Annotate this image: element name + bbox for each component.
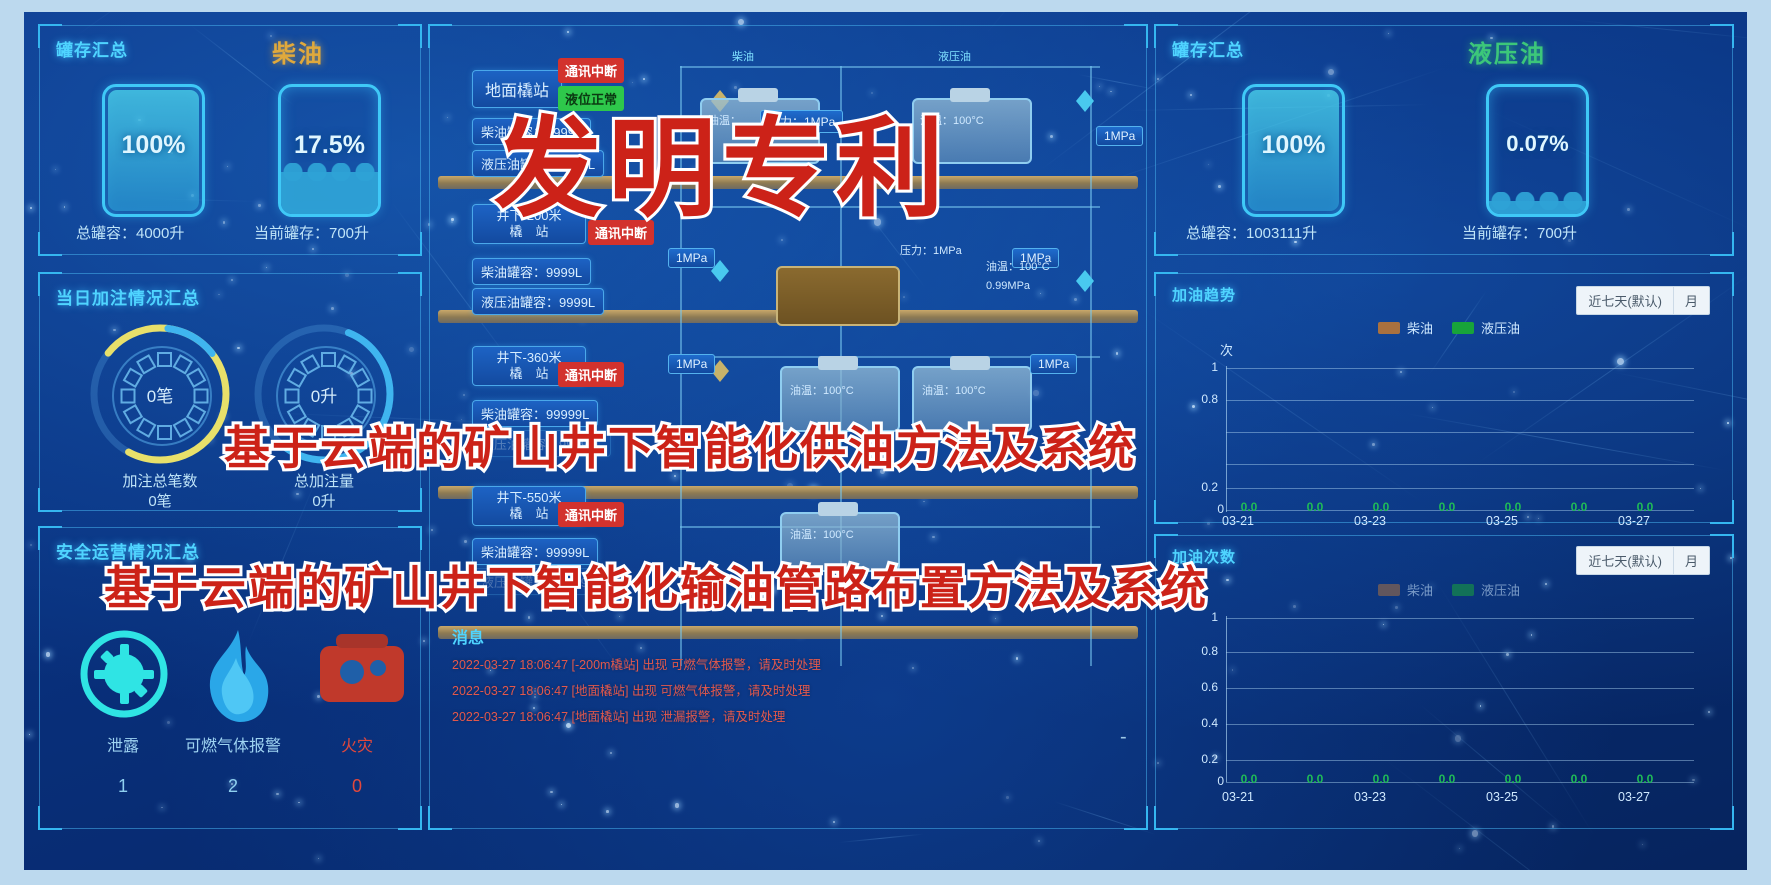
corner-decor (1710, 232, 1734, 256)
panel-title: 当日加注情况汇总 (56, 284, 200, 309)
tank-percent: 100% (1245, 131, 1342, 160)
corner-decor (1710, 24, 1734, 48)
panel-edge (1155, 294, 1156, 502)
pressure-chip-1: 1MPa (668, 248, 715, 268)
schematic-tank-cap (818, 502, 858, 516)
gauge-value: 0笔 (86, 320, 234, 468)
gridline (1226, 400, 1694, 401)
diesel-capacity-1: 柴油罐容：9999L (472, 258, 591, 285)
gauge-caption-title: 加注总笔数 (122, 473, 197, 490)
zoom-out-button[interactable]: - (1120, 726, 1127, 749)
gridline (1226, 724, 1694, 725)
data-label: 0.0 (1430, 772, 1464, 786)
gauge-caption-volume: 总加注量 0升 (244, 472, 404, 512)
x-tick-count: 03-23 (1342, 790, 1398, 804)
schematic-label-hydraulic-0: 液压油 (938, 48, 971, 64)
current-stock-label: 当前罐存：700升 (254, 222, 369, 243)
y-tick: 0.2 (1184, 752, 1218, 766)
legend-swatch-hydraulic (1452, 584, 1474, 596)
legend-swatch-hydraulic (1452, 322, 1474, 334)
hydraulic-capacity-1: 液压油罐容：9999L (472, 288, 604, 315)
corner-decor (1154, 806, 1178, 830)
data-label: 0.0 (1562, 772, 1596, 786)
gas-flame-icon (190, 624, 286, 733)
chart-title-trend: 加油趋势 (1172, 284, 1236, 305)
panel-edge (1176, 25, 1712, 26)
data-label: 0.0 (1628, 772, 1662, 786)
panel-edge (60, 828, 400, 829)
legend-label-hydraulic: 液压油 (1481, 580, 1520, 599)
panel-edge (39, 46, 40, 234)
data-label: 0.0 (1298, 500, 1332, 514)
y-tick: 0.2 (1184, 480, 1218, 494)
temp-text-2: 油温：100°C (790, 382, 854, 398)
data-label: 0.0 (1364, 772, 1398, 786)
range-option-week[interactable]: 近七天(默认) (1577, 287, 1673, 314)
gridline (1226, 688, 1694, 689)
corner-decor (428, 24, 452, 48)
x-tick-trend: 03-25 (1474, 514, 1530, 528)
schematic-tank-cap (950, 88, 990, 102)
legend-swatch-diesel (1378, 322, 1400, 334)
pressure-text-1: 压力：1MPa (900, 242, 962, 258)
total-capacity-label: 总罐容：1003111升 (1186, 222, 1317, 243)
pressure-chip-4: 1MPa (1030, 354, 1077, 374)
safety-label-gas: 可燃气体报警 (173, 732, 293, 756)
status-badge-comm-2: 通讯中断 (558, 362, 624, 387)
schematic-label-diesel-0: 柴油 (732, 48, 754, 64)
panel-edge (60, 527, 400, 528)
panel-edge (39, 548, 40, 808)
safety-label-fire: 火灾 (297, 732, 417, 756)
data-label: 0.0 (1562, 500, 1596, 514)
safety-value-gas: 2 (173, 776, 293, 797)
y-tick: 1 (1184, 360, 1218, 374)
tank-fill (1489, 201, 1586, 214)
message-row: 2022-03-27 18:06:47 [地面橇站] 出现 可燃气体报警，请及时… (452, 680, 810, 699)
data-label: 0.0 (1430, 500, 1464, 514)
station-name-line2: 橇 站 (509, 506, 548, 521)
left-tank-panel: 罐存汇总 柴油 100% 17.5% 总罐容：4000升 当前罐存：700升 (40, 26, 420, 254)
product-title-hydraulic: 液压油 (1468, 34, 1546, 69)
x-tick-trend: 03-23 (1342, 514, 1398, 528)
panel-edge (39, 294, 40, 490)
corner-decor (428, 806, 452, 830)
current-stock-label: 当前罐存：700升 (1462, 222, 1577, 243)
panel-edge (1176, 535, 1712, 536)
legend-label-diesel: 柴油 (1407, 580, 1433, 599)
tank-percent: 17.5% (281, 131, 378, 160)
data-label: 0.0 (1496, 772, 1530, 786)
panel-edge (1176, 273, 1712, 274)
panel-edge (1146, 46, 1147, 808)
safety-value-leak: 1 (63, 776, 183, 797)
panel-edge (1176, 828, 1712, 829)
tank-percent: 100% (105, 131, 202, 160)
message-row: 2022-03-27 18:06:47 [地面橇站] 出现 泄漏报警，请及时处理 (452, 706, 785, 725)
status-badge-comm-3: 通讯中断 (558, 502, 624, 527)
gauge-caption-count: 加注总笔数 0笔 (80, 472, 240, 512)
tank-total-hydraulic: 100% (1242, 84, 1345, 217)
data-label: 0.0 (1364, 500, 1398, 514)
watermark-line-1: 基于云端的矿山井下智能化供油方法及系统 (224, 412, 1136, 478)
y-axis-line (1226, 366, 1227, 512)
range-option-month[interactable]: 月 (1673, 547, 1709, 574)
leak-icon (76, 626, 172, 727)
legend-swatch-diesel (1378, 584, 1400, 596)
fire-alarm-icon (314, 628, 410, 725)
corner-decor (1154, 500, 1178, 524)
schematic-tank-cap (950, 356, 990, 370)
tank-current-hydraulic: 0.07% (1486, 84, 1589, 217)
range-selector-count[interactable]: 近七天(默认) 月 (1576, 546, 1710, 575)
y-axis-line (1226, 616, 1227, 782)
y-tick: 0.8 (1184, 392, 1218, 406)
refuel-count-chart-panel: 加油次数 近七天(默认) 月 柴油 液压油 1 0.8 0.6 0.4 0.2 … (1156, 536, 1732, 828)
tank-percent: 0.07% (1489, 131, 1586, 157)
right-tank-panel: 罐存汇总 液压油 100% 0.07% 总罐容：1003111升 当前罐存：70… (1156, 26, 1732, 254)
corner-decor (38, 232, 62, 256)
x-tick-trend: 03-21 (1210, 514, 1266, 528)
messages-title: 消息 (452, 624, 484, 648)
data-label: 0.0 (1628, 500, 1662, 514)
y-tick: 0.6 (1184, 680, 1218, 694)
corner-decor (398, 806, 422, 830)
y-tick: 0 (1190, 774, 1224, 788)
legend-label-diesel: 柴油 (1407, 318, 1433, 337)
gridline (1226, 760, 1694, 761)
chart-legend-count: 柴油 液压油 (1378, 580, 1520, 599)
corner-decor (398, 272, 422, 296)
range-option-month[interactable]: 月 (1673, 287, 1709, 314)
gauge-refuel-count: 0笔 (86, 320, 234, 468)
corner-decor (1710, 534, 1734, 558)
y-tick: 0.4 (1184, 716, 1218, 730)
panel-edge (1176, 254, 1712, 255)
legend-label-hydraulic: 液压油 (1481, 318, 1520, 337)
x-tick-count: 03-25 (1474, 790, 1530, 804)
panel-edge (60, 254, 400, 255)
panel-edge (450, 25, 1126, 26)
panel-edge (420, 46, 421, 234)
pressure-chip-0: 1MPa (1096, 126, 1143, 146)
gridline (1226, 432, 1694, 433)
tank-fill (281, 172, 378, 214)
station-name-line2: 橇 站 (509, 366, 548, 381)
gridline (1226, 464, 1694, 465)
chart-legend-trend: 柴油 液压油 (1378, 318, 1520, 337)
temp-text-3: 油温：100°C (922, 382, 986, 398)
station-name-line1: 井下-550米 (496, 490, 561, 505)
corner-decor (38, 806, 62, 830)
dashboard: 罐存汇总 柴油 100% 17.5% 总罐容：4000升 当前罐存：700升 (24, 12, 1747, 870)
safety-value-fire: 0 (297, 776, 417, 797)
pressure-text-099: 0.99MPa (986, 280, 1030, 292)
temp-text-4: 油温：100°C (790, 526, 854, 542)
total-capacity-label: 总罐容：4000升 (76, 222, 184, 243)
corner-decor (398, 526, 422, 550)
panel-edge (1155, 46, 1156, 234)
gridline (1226, 618, 1694, 619)
range-selector-trend[interactable]: 近七天(默认) 月 (1576, 286, 1710, 315)
temp-text-1: 油温：100°C (986, 258, 1050, 274)
x-tick-count: 03-21 (1210, 790, 1266, 804)
refuel-trend-chart-panel: 加油趋势 近七天(默认) 月 柴油 液压油 次 1 0.8 0.2 0 (1156, 274, 1732, 522)
pipe-horizontal (680, 66, 1100, 68)
tank-current-diesel: 17.5% (278, 84, 381, 217)
tank-total-diesel: 100% (102, 84, 205, 217)
corner-decor (1124, 806, 1148, 830)
gridline (1226, 488, 1694, 489)
panel-edge (450, 828, 1126, 829)
panel-edge (60, 25, 400, 26)
safety-label-leak: 泄露 (63, 732, 183, 756)
schematic-tank-cap (818, 356, 858, 370)
x-tick-trend: 03-27 (1606, 514, 1662, 528)
gridline (1226, 368, 1694, 369)
corner-decor (1710, 500, 1734, 524)
panel-edge (1732, 294, 1733, 502)
corner-decor (398, 232, 422, 256)
range-option-week[interactable]: 近七天(默认) (1577, 547, 1673, 574)
status-badge-comm-0: 通讯中断 (558, 58, 624, 83)
y-axis-unit-trend: 次 (1220, 340, 1233, 359)
data-label: 0.0 (1232, 772, 1266, 786)
gauge-caption-value: 0升 (312, 493, 335, 510)
corner-decor (1154, 232, 1178, 256)
corner-decor (1124, 24, 1148, 48)
watermark-line-2: 基于云端的矿山井下智能化输油管路布置方法及系统 (104, 552, 1208, 618)
screenshot-root: 罐存汇总 柴油 100% 17.5% 总罐容：4000升 当前罐存：700升 (0, 0, 1771, 885)
data-label: 0.0 (1496, 500, 1530, 514)
corner-decor (1710, 806, 1734, 830)
x-tick-count: 03-27 (1606, 790, 1662, 804)
y-tick: 0.8 (1184, 644, 1218, 658)
pressure-chip-3: 1MPa (668, 354, 715, 374)
panel-edge (60, 273, 400, 274)
panel-title: 罐存汇总 (56, 36, 128, 61)
watermark-headline: 发明专利 (494, 82, 950, 238)
product-title-diesel: 柴油 (272, 34, 324, 69)
station-name-line1: 井下-360米 (496, 350, 561, 365)
schematic-oil-tank (776, 266, 900, 326)
panel-title: 罐存汇总 (1172, 36, 1244, 61)
level-550-decor (438, 626, 1138, 639)
data-label: 0.0 (1232, 500, 1266, 514)
corner-decor (1710, 272, 1734, 296)
message-row: 2022-03-27 18:06:47 [-200m橇站] 出现 可燃气体报警，… (452, 654, 821, 673)
corner-decor (398, 24, 422, 48)
corner-decor (38, 488, 62, 512)
gridline (1226, 652, 1694, 653)
panel-edge (1732, 556, 1733, 808)
panel-edge (1732, 46, 1733, 234)
data-label: 0.0 (1298, 772, 1332, 786)
gauge-caption-value: 0笔 (148, 493, 171, 510)
